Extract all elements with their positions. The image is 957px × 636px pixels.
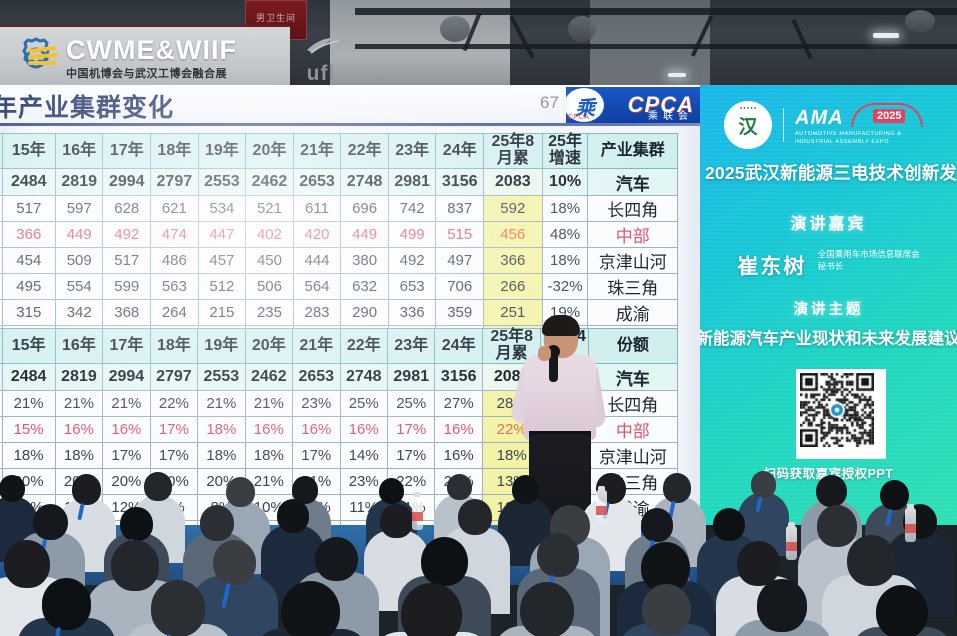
- audience-head: [421, 537, 468, 586]
- cpca-logo: 乘 CPCA CPCA 乘联会: [566, 87, 700, 123]
- table-row: 36644949247444740242044949951545648%中部: [0, 222, 678, 248]
- topic-label: 演讲主题: [700, 298, 957, 319]
- speaker-shirt: [524, 354, 596, 440]
- column-header: 24年: [435, 329, 482, 364]
- data-cell: 653: [388, 274, 436, 300]
- cluster-name-cell: 长四角: [588, 196, 678, 222]
- data-cell: 706: [436, 274, 484, 300]
- audience-head: [401, 583, 462, 636]
- bottle-label: [786, 542, 797, 551]
- data-cell: 23%: [293, 391, 340, 417]
- cluster-name-cell: 中部: [588, 222, 678, 248]
- data-cell: 315: [2, 300, 55, 326]
- aug-cumulative-cell: 266: [483, 274, 542, 300]
- ceiling-truss-brace: [792, 19, 813, 59]
- bottle-label: [596, 506, 607, 515]
- table-total-row: 2484281929942797255324622653274829813156…: [0, 169, 678, 196]
- total-cell: 3156: [436, 169, 484, 196]
- column-header: 22年: [341, 134, 389, 169]
- data-cell: 25%: [387, 391, 434, 417]
- data-cell: 21%: [103, 391, 150, 417]
- audience-head: [880, 480, 909, 511]
- table-row: 河45450951748645745044438049249736618%京津山…: [0, 248, 678, 274]
- logo-divider: [783, 108, 784, 142]
- data-cell: 492: [388, 248, 436, 274]
- total-cell: 2797: [150, 364, 197, 391]
- audience-head: [876, 585, 928, 636]
- column-header: 16年: [55, 329, 102, 364]
- total-cell: 2083: [483, 169, 542, 196]
- cluster-name-cell: 珠三角: [588, 274, 678, 300]
- bottle-cap: [598, 486, 605, 491]
- expo-banner: CWME&WIIF 中国机博会与武汉工博会融合展: [0, 25, 290, 89]
- total-cell: 2653: [293, 169, 341, 196]
- data-cell: 342: [55, 300, 103, 326]
- data-cell: 515: [436, 222, 484, 248]
- data-cell: 27%: [435, 391, 482, 417]
- data-cell: 444: [293, 248, 341, 274]
- water-bottle: [412, 496, 423, 530]
- column-header: 19年: [198, 329, 245, 364]
- audience-head: [642, 584, 691, 635]
- growth-cell: 48%: [542, 222, 588, 248]
- slide-page-number: 67: [540, 93, 559, 113]
- event-logo-row: ● ● ● ● ● 汉 AMA 2025 AUTOMOTIVE MANUFACT…: [724, 101, 939, 149]
- ama-expo-logo-icon: AMA 2025 AUTOMOTIVE MANUFACTURING &INDUS…: [795, 103, 939, 147]
- table-row: 51759762862153452161169674283759218%长四角: [0, 196, 678, 222]
- audience-head: [144, 472, 171, 501]
- expo-banner-text: CWME&WIIF 中国机博会与武汉工博会融合展: [66, 37, 237, 80]
- aug-cumulative-cell: 592: [483, 196, 542, 222]
- bottle-cap: [414, 492, 421, 497]
- data-cell: 837: [436, 196, 484, 222]
- audience-head: [200, 505, 235, 541]
- expo-banner-subtitle: 中国机博会与武汉工博会融合展: [66, 69, 237, 80]
- bottle-label: [905, 524, 916, 533]
- ceiling-truss-brace: [509, 16, 534, 58]
- data-cell: 499: [388, 222, 436, 248]
- bottle-cap: [788, 522, 795, 527]
- audience-head: [226, 477, 255, 508]
- data-cell: 21%: [55, 391, 102, 417]
- audience-head: [277, 499, 309, 532]
- growth-cell: -32%: [542, 274, 588, 300]
- data-cell: 21%: [198, 391, 245, 417]
- water-bottle: [596, 490, 607, 524]
- data-cell: 336: [388, 300, 436, 326]
- column-header: 20年: [245, 329, 292, 364]
- bottle-cap: [907, 504, 914, 509]
- data-cell: 454: [2, 248, 55, 274]
- total-cell: 2981: [388, 169, 436, 196]
- column-header: 25年增速: [542, 134, 588, 169]
- total-cell: 2748: [340, 364, 387, 391]
- ufi-logo-label: ufi: [296, 63, 346, 84]
- total-cell: 2484: [2, 364, 55, 391]
- column-header: 产业集群: [588, 134, 678, 169]
- ufi-logo-icon: ufi: [296, 34, 346, 82]
- data-cell: 449: [341, 222, 389, 248]
- guest-label: 演讲嘉宾: [700, 210, 957, 234]
- water-bottle: [905, 508, 916, 542]
- data-cell: 492: [103, 222, 151, 248]
- audience-head: [537, 533, 579, 577]
- slide-title-divider: [0, 123, 700, 126]
- total-cell: 2748: [341, 169, 389, 196]
- growth-cell: 18%: [542, 248, 588, 274]
- data-cell: 512: [198, 274, 246, 300]
- speaker-hair: [542, 315, 580, 336]
- total-cell: 2553: [198, 169, 246, 196]
- aug-cumulative-cell: 366: [483, 248, 542, 274]
- cpca-mark-icon: 乘 CPCA: [564, 88, 604, 122]
- column-header: 20年: [246, 134, 294, 169]
- column-header: 16年: [55, 134, 103, 169]
- wuhan-emblem-letter: 汉: [726, 112, 770, 139]
- aug-cumulative-cell: 456: [483, 222, 542, 248]
- audience-head: [641, 508, 673, 541]
- column-header: 19年: [198, 134, 246, 169]
- audience-head: [380, 504, 412, 538]
- data-cell: 215: [198, 300, 246, 326]
- total-cell: 2994: [103, 169, 151, 196]
- data-cell: 447: [198, 222, 246, 248]
- total-cell: 2653: [293, 364, 340, 391]
- data-cell: 742: [388, 196, 436, 222]
- cpca-logo-cn: 乘联会: [648, 107, 693, 122]
- total-cell: 2797: [151, 169, 199, 196]
- data-cell: 696: [341, 196, 389, 222]
- guest-name: 崔东树: [737, 255, 806, 278]
- column-header: 23年: [387, 329, 434, 364]
- data-cell: 21%: [245, 391, 292, 417]
- column-header: 18年: [150, 329, 197, 364]
- data-cell: 597: [55, 196, 103, 222]
- data-cell: 235: [246, 300, 294, 326]
- data-cell: 474: [151, 222, 199, 248]
- slide-title: 年产业集群变化: [0, 88, 174, 124]
- data-cell: 628: [103, 196, 151, 222]
- ceiling-truss-beam: [355, 8, 957, 15]
- wuhan-emblem-icon: ● ● ● ● ● 汉: [724, 101, 772, 149]
- topic-title: 新能源汽车产业现状和未来发展建议: [700, 325, 957, 349]
- audience-head: [847, 535, 896, 586]
- audience-head: [120, 507, 152, 541]
- speaker-hand: [538, 346, 551, 361]
- cluster-name-cell: 汽车: [588, 169, 678, 196]
- column-header: 18年: [151, 134, 199, 169]
- ceiling-duct: [905, 10, 935, 32]
- wuhan-emblem-ring-text: ● ● ● ● ●: [726, 105, 770, 110]
- audience-head: [757, 579, 807, 632]
- guest-organization: 全国乘用车市场信息联席会秘书长: [818, 248, 920, 273]
- total-cell: 2553: [198, 364, 245, 391]
- audience-head: [520, 582, 574, 636]
- audience-head: [447, 474, 472, 500]
- audience-head: [817, 505, 857, 547]
- ama-logo-year: 2025: [873, 109, 905, 123]
- audience-head: [213, 540, 256, 585]
- column-header: 23年: [388, 134, 436, 169]
- data-cell: 22%: [150, 391, 197, 417]
- column-header: 15年: [2, 134, 55, 169]
- data-cell: 359: [436, 300, 484, 326]
- data-cell: 632: [341, 274, 389, 300]
- water-bottle: [786, 526, 797, 560]
- column-header: 17年: [103, 329, 150, 364]
- audience-head: [512, 475, 539, 504]
- data-cell: 554: [55, 274, 103, 300]
- ceiling-truss-beam: [355, 44, 957, 49]
- data-cell: 521: [246, 196, 294, 222]
- data-cell: 564: [293, 274, 341, 300]
- total-cell: 2981: [387, 364, 434, 391]
- total-cell: 2462: [245, 364, 292, 391]
- total-cell: 2462: [246, 169, 294, 196]
- data-cell: 517: [103, 248, 151, 274]
- audience-area: [0, 430, 957, 636]
- data-cell: 449: [55, 222, 103, 248]
- data-cell: 380: [341, 248, 389, 274]
- table-row: 495554599563512506564632653706266-32%珠三角: [0, 274, 678, 300]
- bottle-label: [412, 512, 423, 521]
- column-header: 25年8月累: [483, 134, 542, 169]
- data-cell: 290: [341, 300, 389, 326]
- growth-cell: 18%: [542, 196, 588, 222]
- data-cell: 368: [103, 300, 151, 326]
- guest-row: 崔东树 全国乘用车市场信息联席会秘书长: [700, 248, 957, 280]
- ama-logo-subtitle: AUTOMOTIVE MANUFACTURING &INDUSTRIAL ASS…: [795, 130, 902, 147]
- conference-title: 2025武汉新能源三电技术创新发展大会: [705, 160, 957, 185]
- total-cell: 2484: [2, 169, 55, 196]
- ceiling-duct: [440, 16, 470, 42]
- data-cell: 517: [2, 196, 55, 222]
- audience-head: [663, 473, 691, 503]
- data-cell: 534: [198, 196, 246, 222]
- gear-logo-icon: [14, 36, 58, 80]
- audience-head: [379, 478, 404, 505]
- data-cell: 497: [436, 248, 484, 274]
- column-header: 17年: [103, 134, 151, 169]
- data-cell: 25%: [340, 391, 387, 417]
- total-cell: 10%: [542, 169, 588, 196]
- audience-head: [33, 504, 68, 541]
- data-cell: 450: [246, 248, 294, 274]
- data-cell: 509: [55, 248, 103, 274]
- audience-head: [42, 578, 91, 630]
- cluster-name-cell: 京津山河: [588, 248, 678, 274]
- expo-banner-title: CWME&WIIF: [66, 37, 237, 64]
- ceiling-duct: [568, 16, 596, 42]
- data-cell: 495: [2, 274, 55, 300]
- data-cell: 283: [293, 300, 341, 326]
- ceiling-lamp-icon: [873, 33, 899, 38]
- total-cell: 2819: [55, 364, 102, 391]
- audience-head: [72, 474, 101, 505]
- data-cell: 599: [103, 274, 151, 300]
- data-cell: 486: [151, 248, 199, 274]
- audience-head: [151, 580, 206, 636]
- data-cell: 457: [198, 248, 246, 274]
- screenshot-root: 男卫生间 CWME&WIIF 中国机博会与武汉工博会融合展 ufi 年产业集群变…: [0, 0, 957, 636]
- ceiling-lamp-icon: [668, 73, 686, 77]
- ama-logo-text: AMA: [795, 107, 844, 130]
- data-cell: 264: [151, 300, 199, 326]
- audience-head: [713, 508, 745, 541]
- total-cell: 2819: [55, 169, 103, 196]
- total-cell: 2994: [103, 364, 150, 391]
- audience-head: [751, 471, 777, 498]
- data-cell: 563: [151, 274, 199, 300]
- column-header: 21年: [293, 329, 340, 364]
- data-cell: 21%: [2, 391, 55, 417]
- audience-head: [458, 499, 493, 535]
- data-cell: 621: [151, 196, 199, 222]
- data-cell: 420: [293, 222, 341, 248]
- data-cell: 611: [293, 196, 341, 222]
- data-cell: 506: [246, 274, 294, 300]
- audience-head: [816, 475, 847, 507]
- column-header: 24年: [436, 134, 484, 169]
- data-cell: 402: [246, 222, 294, 248]
- column-header: 22年: [340, 329, 387, 364]
- restroom-sign-label: 男卫生间: [246, 11, 306, 24]
- table-header-row: 15年16年17年18年19年20年21年22年23年24年25年8月累25年增…: [0, 134, 678, 169]
- audience-head: [315, 537, 358, 582]
- data-cell: 366: [2, 222, 55, 248]
- total-cell: 3156: [435, 364, 482, 391]
- cpca-mark-sub: CPCA: [568, 114, 589, 121]
- column-header: 15年: [2, 329, 55, 364]
- audience-head: [111, 540, 159, 590]
- column-header: 21年: [293, 134, 341, 169]
- audience-head: [0, 475, 25, 502]
- audience-head: [4, 540, 50, 588]
